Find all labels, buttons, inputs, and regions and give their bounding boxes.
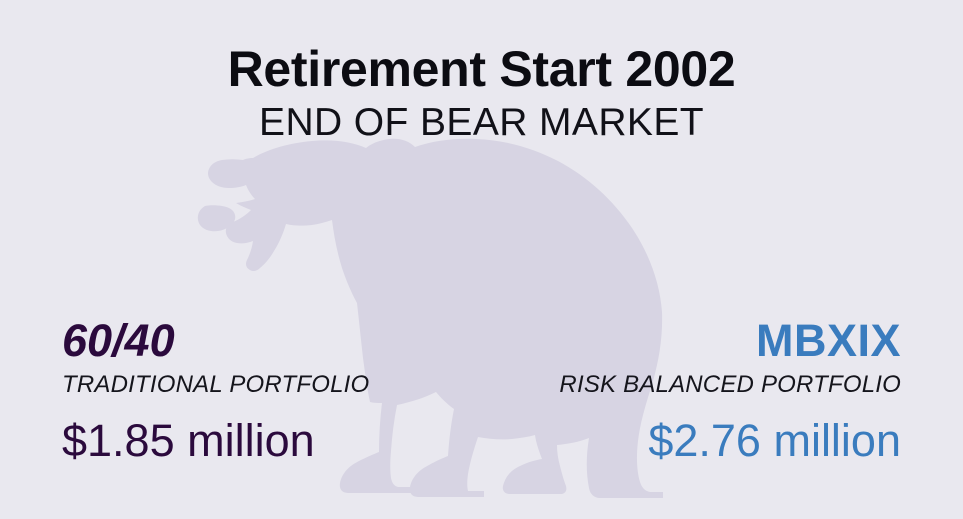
page-title: Retirement Start 2002 (0, 44, 963, 94)
right-portfolio-name: MBXIX (559, 318, 901, 363)
left-portfolio-description: TRADITIONAL PORTFOLIO (62, 373, 369, 397)
right-portfolio-value: $2.76 million (648, 418, 901, 463)
retirement-comparison-infographic: Retirement Start 2002 END OF BEAR MARKET… (0, 0, 963, 519)
right-portfolio-description: RISK BALANCED PORTFOLIO (559, 373, 901, 397)
left-portfolio-name: 60/40 (62, 318, 369, 363)
header-block: Retirement Start 2002 END OF BEAR MARKET (0, 44, 963, 142)
left-portfolio-value: $1.85 million (62, 418, 315, 463)
right-portfolio-block: MBXIX RISK BALANCED PORTFOLIO (559, 318, 901, 397)
left-portfolio-block: 60/40 TRADITIONAL PORTFOLIO (62, 318, 369, 397)
page-subtitle: END OF BEAR MARKET (0, 103, 963, 142)
text-layer: Retirement Start 2002 END OF BEAR MARKET… (0, 0, 963, 519)
